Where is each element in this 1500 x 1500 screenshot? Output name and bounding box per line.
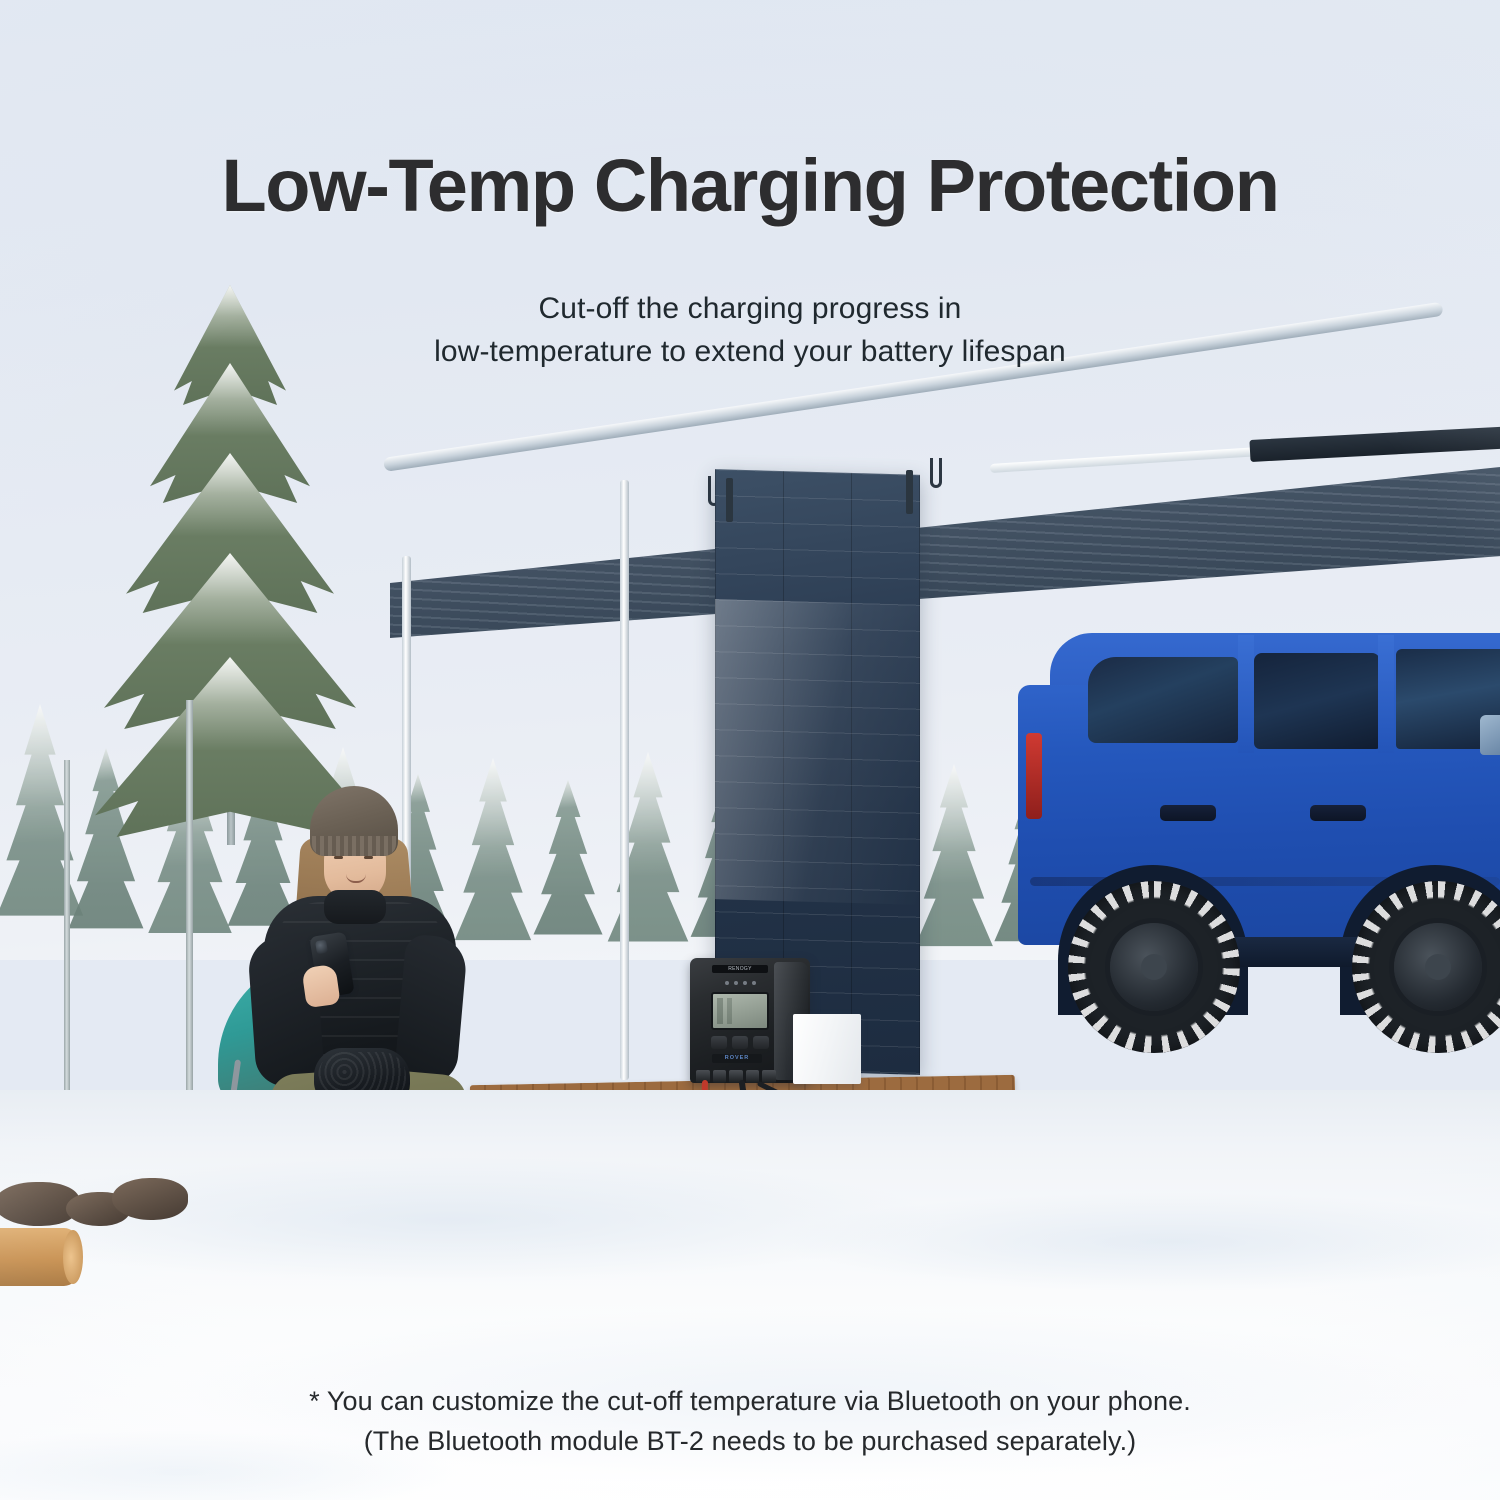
snow-covered-tire xyxy=(1068,881,1240,1053)
firewood-log xyxy=(0,1228,78,1286)
subtitle-line-1: Cut-off the charging progress in xyxy=(0,288,1500,331)
footnote-line-1: * You can customize the cut-off temperat… xyxy=(0,1382,1500,1422)
vehicle-awning xyxy=(390,418,1500,698)
controller-buttons[interactable] xyxy=(711,1036,769,1049)
awning-support-pole xyxy=(620,480,629,1080)
controller-model-label: ROVER xyxy=(712,1054,762,1063)
white-accessory-box xyxy=(793,1014,861,1084)
controller-lcd-display xyxy=(711,992,769,1030)
solar-charge-controller: RENOGY ROVER xyxy=(690,958,810,1083)
subtitle: Cut-off the charging progress in low-tem… xyxy=(0,288,1500,373)
knit-beanie xyxy=(310,786,398,856)
rock xyxy=(112,1178,188,1220)
footnote-line-2: (The Bluetooth module BT-2 needs to be p… xyxy=(0,1422,1500,1462)
page-title: Low-Temp Charging Protection xyxy=(0,148,1500,225)
panel-strap xyxy=(906,470,913,514)
footnote: * You can customize the cut-off temperat… xyxy=(0,1382,1500,1462)
controller-status-leds xyxy=(716,979,764,986)
subtitle-line-2: low-temperature to extend your battery l… xyxy=(0,331,1500,374)
controller-terminals xyxy=(696,1070,776,1083)
controller-brand-label: RENOGY xyxy=(712,965,768,973)
panel-strap xyxy=(726,478,733,522)
